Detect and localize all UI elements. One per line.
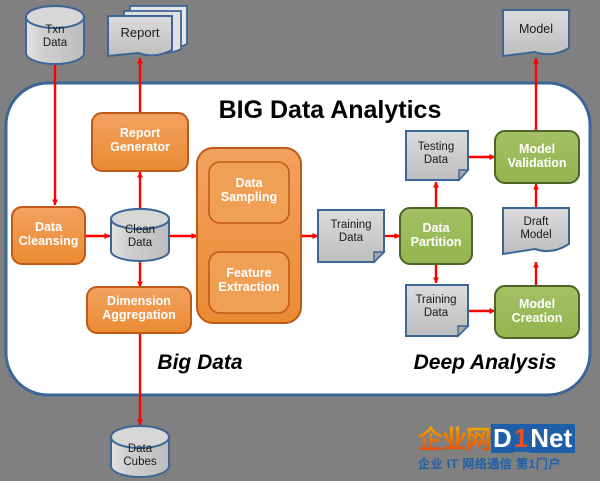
feature-engineering-group (197, 148, 301, 323)
report-node (108, 6, 187, 56)
watermark-word-net: Net (529, 424, 575, 453)
watermark-brand-d1net: D1Net (491, 424, 575, 453)
feature-extraction-node (209, 252, 289, 313)
diagram-svg (0, 0, 600, 481)
watermark-brand: 企业网 D1Net (418, 423, 594, 453)
report-generator-node (92, 113, 188, 171)
training-data-split-node (406, 285, 468, 336)
training-data-input-node (318, 210, 384, 262)
diagram-canvas: BIG Data Analytics Big Data Deep Analysi… (0, 0, 600, 481)
watermark-letter-d: D (491, 424, 513, 453)
data-sampling-node (209, 162, 289, 223)
dimension-aggregation-node (87, 287, 191, 333)
model-validation-node (495, 131, 579, 183)
watermark-logo: 企业网 D1Net 企业 IT 网络通信 第1门户 (418, 423, 594, 475)
clean-data-node (111, 209, 169, 261)
txn-data-node (26, 6, 84, 64)
watermark-brand-cn: 企业网 (418, 420, 490, 456)
data-cleansing-node (12, 207, 85, 264)
watermark-tagline: 企业 IT 网络通信 第1门户 (418, 455, 594, 472)
data-partition-node (400, 208, 472, 264)
testing-data-node (406, 131, 468, 180)
model-creation-node (495, 286, 579, 338)
watermark-digit-one: 1 (513, 424, 529, 452)
draft-model-node (503, 208, 569, 254)
data-cubes-node (111, 426, 169, 477)
model-node (503, 10, 569, 56)
